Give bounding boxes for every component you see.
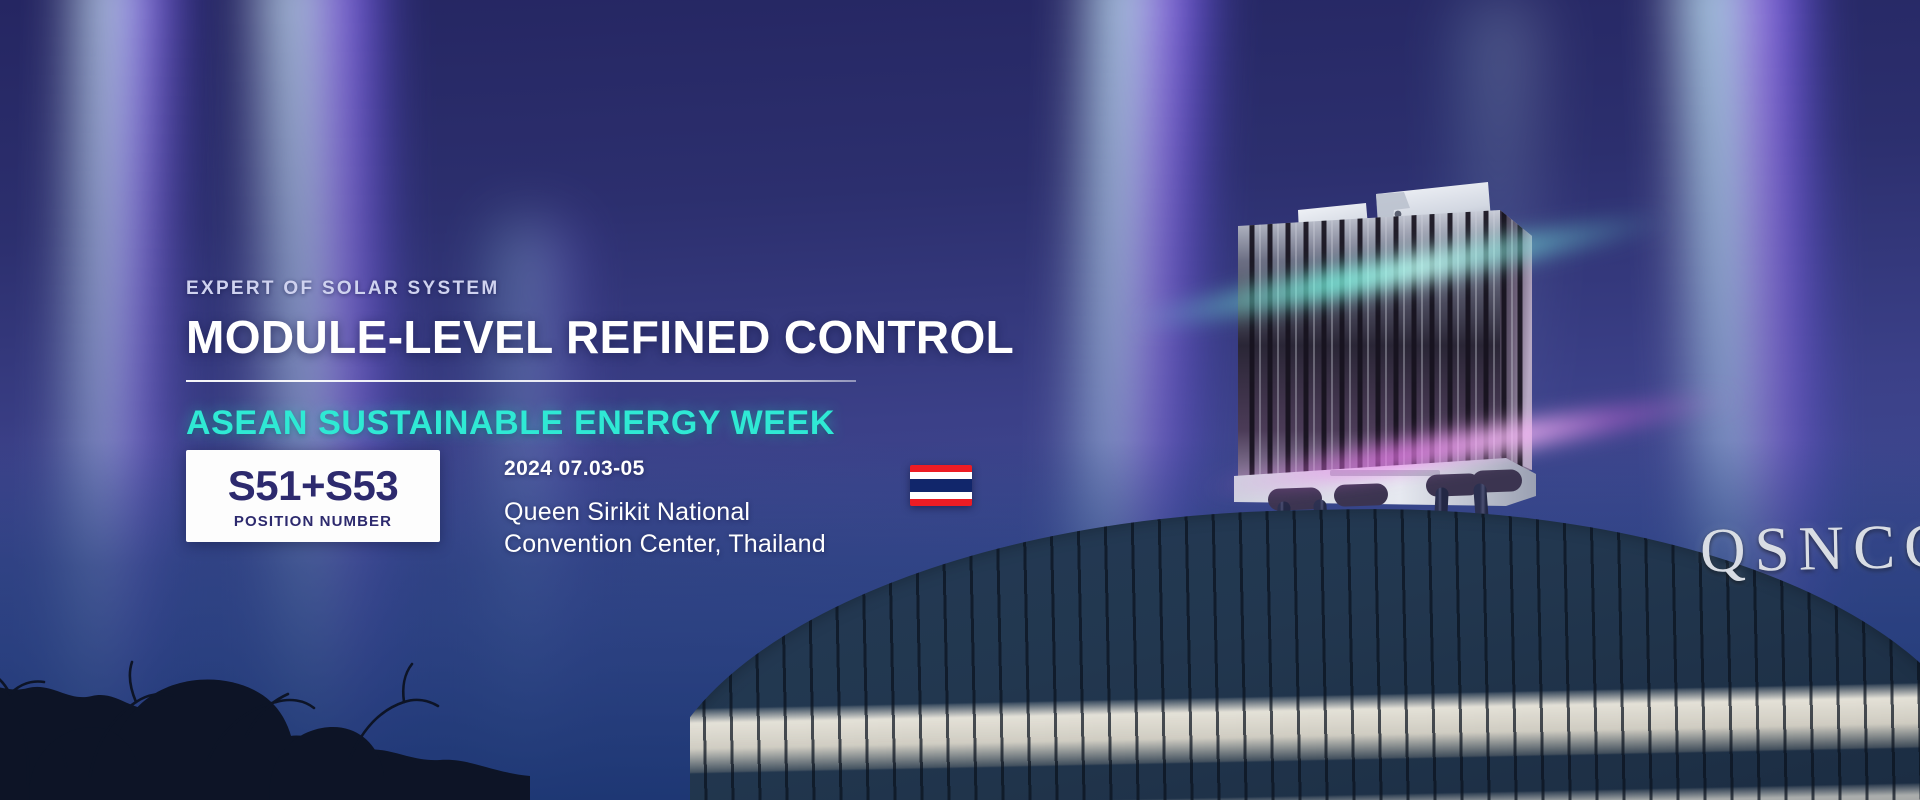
event-info-row: S51+S53 POSITION NUMBER 2024 07.03-05 Qu… [186,450,972,560]
title-divider [186,380,856,382]
thailand-flag-icon [910,465,972,506]
page-title: MODULE-LEVEL REFINED CONTROL [186,313,1086,362]
headline-block: EXPERT OF SOLAR SYSTEM MODULE-LEVEL REFI… [186,278,1086,443]
flag-stripe-red-top [910,465,972,472]
promotional-banner: QSNCC EXPERT OF SOLAR SYSTEM MODU [0,0,1920,800]
venue-line-1: Queen Sirikit National [504,498,750,526]
eyebrow-text: EXPERT OF SOLAR SYSTEM [186,278,1086,300]
event-name: ASEAN SUSTAINABLE ENERGY WEEK [186,404,1086,443]
booth-caption: POSITION NUMBER [234,513,392,530]
venue-line-2: Convention Center, Thailand [504,530,826,558]
brand-marking [1330,470,1440,476]
venue-block: 2024 07.03-05 Queen Sirikit National Con… [504,450,826,560]
flag-stripe-red-bottom [910,499,972,506]
qsncc-sign: QSNCC [1699,509,1920,587]
flag-stripe-navy [910,479,972,493]
position-number-badge: S51+S53 POSITION NUMBER [186,450,440,542]
event-date: 2024 07.03-05 [504,457,826,481]
flag-stripe-white-top [910,472,972,479]
flag-stripe-white-bottom [910,492,972,499]
venue-name: Queen Sirikit National Convention Center… [504,496,826,560]
booth-code: S51+S53 [228,465,399,507]
